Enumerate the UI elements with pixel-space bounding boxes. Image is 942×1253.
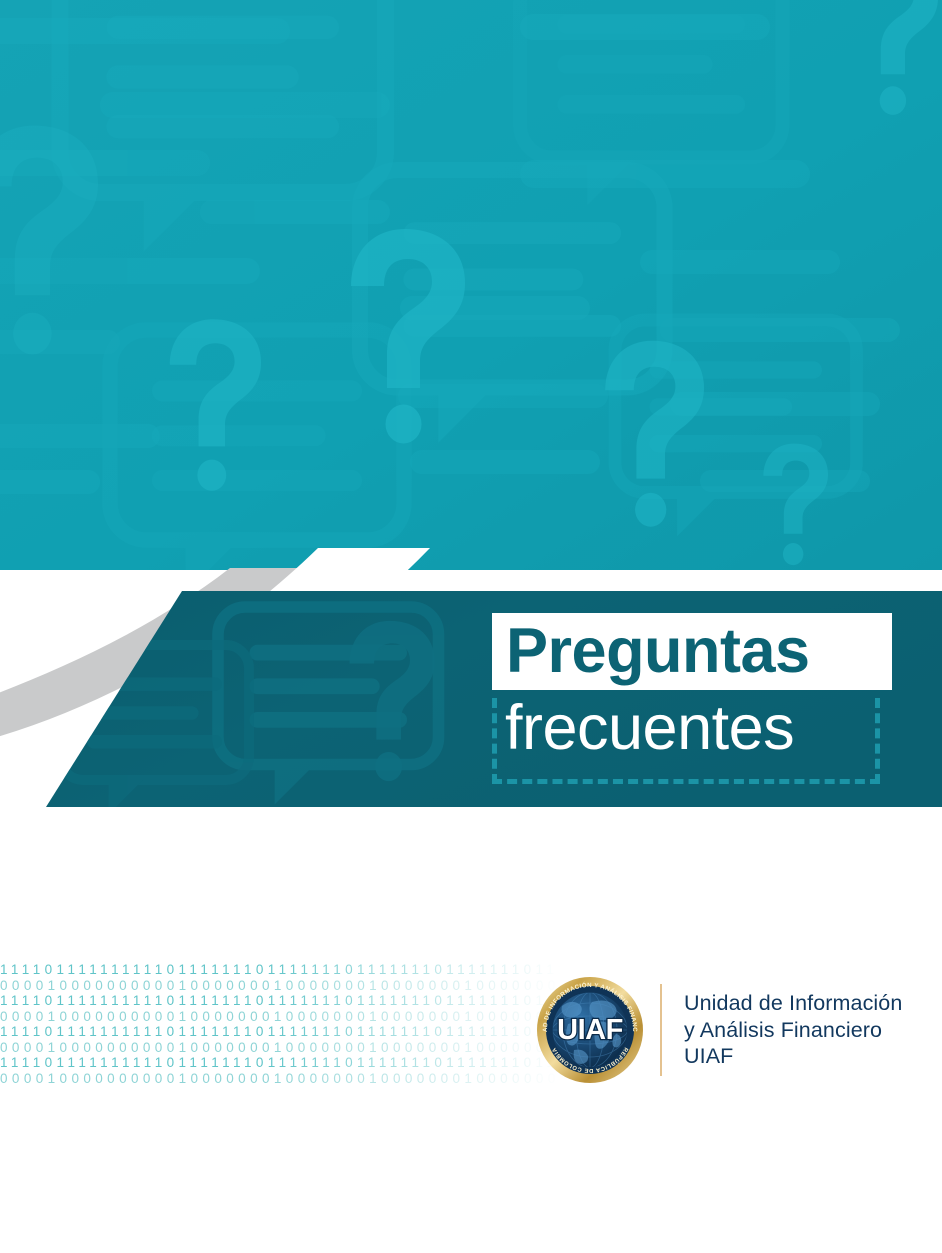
binary-row: 1111011111111110111111101111111011111110… xyxy=(0,993,560,1009)
binary-row: 0000100000000001000000010000000100000001… xyxy=(0,1009,560,1025)
binary-row: 1111011111111110111111101111111011111110… xyxy=(0,1024,560,1040)
binary-row: 0000100000000001000000010000000100000001… xyxy=(0,978,560,994)
logo-divider xyxy=(660,984,662,1076)
hero-pattern-graphic xyxy=(0,0,942,570)
binary-row: 1111011111111110111111101111111011111110… xyxy=(0,962,560,978)
title-dashed-frame: frecuentes xyxy=(492,698,880,784)
binary-row: 0000100000000001000000010000000100000001… xyxy=(0,1071,560,1087)
seal-acronym-text: UIAF xyxy=(557,1014,623,1046)
wordmark-line-2: y Análisis Financiero xyxy=(684,1017,902,1044)
hero-banner xyxy=(0,0,942,570)
title-line-preguntas: Preguntas xyxy=(492,613,892,690)
uiaf-seal-icon: UNIDAD DE INFORMACIÓN Y ANÁLISIS FINANCI… xyxy=(536,976,644,1084)
binary-row: 0000100000000001000000010000000100000001… xyxy=(0,1040,560,1056)
uiaf-logo: UNIDAD DE INFORMACIÓN Y ANÁLISIS FINANCI… xyxy=(536,976,902,1084)
document-cover-page: Preguntas frecuentes 1111011111111110111… xyxy=(0,0,942,1253)
binary-pattern-decoration: 1111011111111110111111101111111011111110… xyxy=(0,962,560,1087)
uiaf-wordmark: Unidad de Información y Análisis Financi… xyxy=(684,990,902,1070)
wordmark-line-3: UIAF xyxy=(684,1043,902,1070)
binary-row: 1111011111111110111111101111111011111110… xyxy=(0,1055,560,1071)
title-line-frecuentes: frecuentes xyxy=(505,686,794,770)
wordmark-line-1: Unidad de Información xyxy=(684,990,902,1017)
cover-title: Preguntas frecuentes xyxy=(492,613,892,784)
